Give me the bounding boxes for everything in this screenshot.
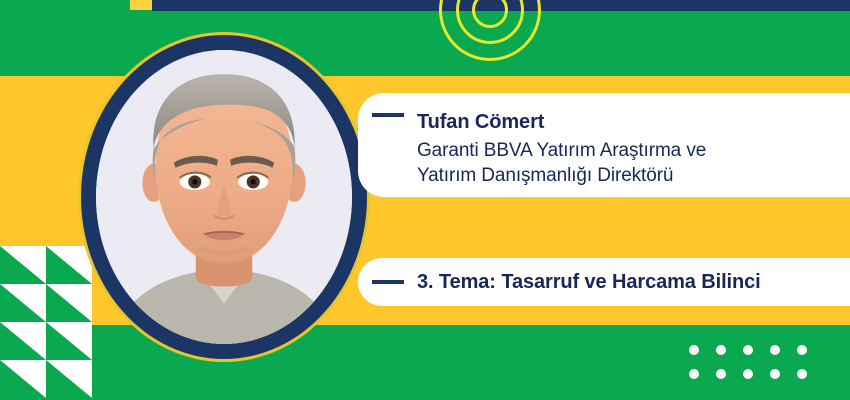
navy-top-bar (152, 0, 850, 11)
speaker-name: Tufan Cömert (417, 110, 850, 134)
dash-marker-icon (372, 113, 404, 117)
grid-dot (716, 369, 726, 379)
speaker-card: Tufan Cömert Garanti BBVA Yatırım Araştı… (358, 93, 850, 197)
dash-marker-icon (372, 280, 404, 284)
grid-dot (797, 369, 807, 379)
chevron-tile (0, 360, 46, 398)
topic-card-body: 3. Tema: Tasarruf ve Harcama Bilinci (417, 270, 850, 294)
grid-dot (689, 369, 699, 379)
grid-dot (743, 345, 753, 355)
chevron-tile (46, 360, 92, 398)
speaker-title-line-1: Garanti BBVA Yatırım Araştırma ve (417, 138, 850, 163)
poster-canvas: Tufan Cömert Garanti BBVA Yatırım Araştı… (0, 0, 850, 400)
avatar-photo (96, 50, 352, 344)
topic-card: 3. Tema: Tasarruf ve Harcama Bilinci (358, 258, 850, 306)
grid-dot (743, 369, 753, 379)
grid-dot (770, 345, 780, 355)
grid-dot (689, 345, 699, 355)
grid-dot (797, 345, 807, 355)
chevron-tile (0, 246, 46, 284)
grid-dot (716, 345, 726, 355)
yellow-accent-square (130, 0, 152, 10)
topic-title: 3. Tema: Tasarruf ve Harcama Bilinci (417, 270, 850, 294)
grid-dot (770, 369, 780, 379)
speaker-card-body: Tufan Cömert Garanti BBVA Yatırım Araştı… (417, 102, 850, 188)
headshot-illustration (96, 50, 352, 344)
avatar (78, 32, 370, 362)
dot-grid-decoration (689, 345, 824, 393)
chevron-tile (0, 284, 46, 322)
chevron-tile (0, 322, 46, 360)
speaker-title-line-2: Yatırım Danışmanlığı Direktörü (417, 163, 850, 188)
